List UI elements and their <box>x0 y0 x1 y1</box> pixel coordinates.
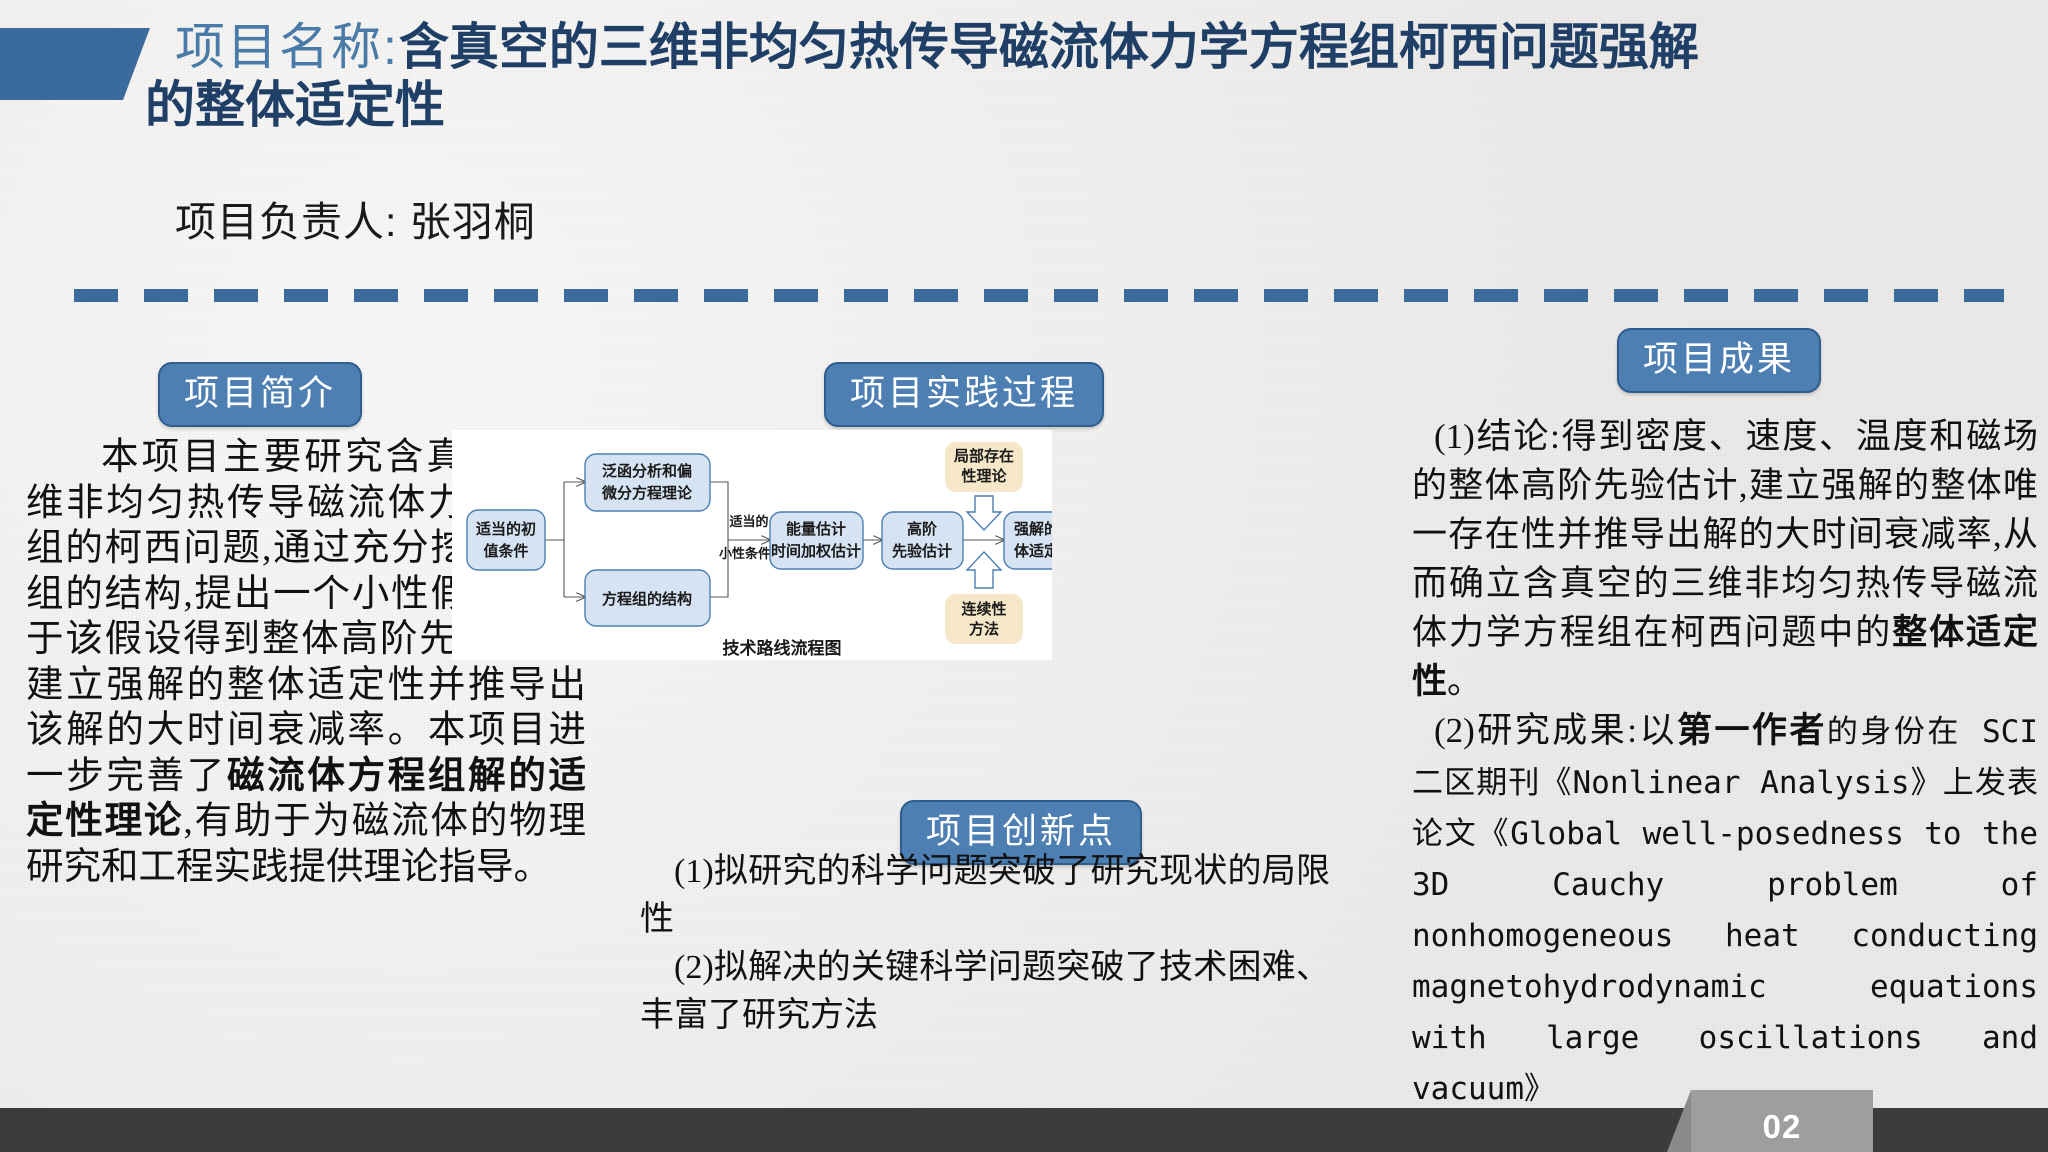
block-arrow-down-icon <box>967 496 1001 530</box>
flow-node-structure: 方程组的结构 <box>585 570 710 626</box>
flow-node-apriori-line1: 高阶 <box>907 520 938 538</box>
flow-node-energy: 能量估计 时间加权估计 <box>770 512 863 569</box>
flow-node-local-existence-line2: 性理论 <box>961 467 1007 485</box>
results-item-2-part-a: (2)研究成果:以 <box>1434 711 1677 750</box>
technical-roadmap-diagram: 适当的初 值条件 泛函分析和偏 微分方程理论 方程组的结构 适当的 小性条件 能… <box>452 430 1052 660</box>
dashed-divider <box>74 289 2004 302</box>
results-item-1-part-b: 。 <box>1447 662 1482 701</box>
block-arrow-up-icon <box>967 552 1001 588</box>
flow-node-continuity-line1: 连续性 <box>961 600 1006 618</box>
flow-node-local-existence-line1: 局部存在 <box>953 447 1014 465</box>
page-number: 02 <box>1691 1108 1873 1146</box>
section-heading-intro: 项目简介 <box>158 362 362 427</box>
title-main-line1: 含真空的三维非均匀热传导磁流体力学方程组柯西问题强解 <box>399 19 1699 75</box>
page-title: 项目名称:含真空的三维非均匀热传导磁流体力学方程组柯西问题强解 的整体适定性 <box>175 18 2045 134</box>
results-body-text: (1)结论:得到密度、速度、温度和磁场的整体高阶先验估计,建立强解的整体唯一存在… <box>1412 412 2038 1114</box>
diagram-caption: 技术路线流程图 <box>723 638 842 658</box>
results-item-2: (2)研究成果:以第一作者的身份在 SCI 二区期刊《Nonlinear Ana… <box>1412 706 2038 1114</box>
title-main-line2: 的整体适定性 <box>145 76 2045 134</box>
flow-node-init: 适当的初 值条件 <box>467 510 545 570</box>
flow-edge-label-smallness: 小性条件 <box>719 546 771 561</box>
results-item-2-part-b: 的身份在 SCI 二区期刊《Nonlinear Analysis》上发表论文《G… <box>1412 714 2038 1107</box>
title-prefix: 项目名称: <box>175 19 399 75</box>
flow-node-apriori-line2: 先验估计 <box>892 542 952 560</box>
flow-node-local-existence: 局部存在 性理论 <box>945 442 1023 492</box>
flow-edge-label-suitable: 适当的 <box>729 514 768 529</box>
results-item-1: (1)结论:得到密度、速度、温度和磁场的整体高阶先验估计,建立强解的整体唯一存在… <box>1412 412 2038 706</box>
innovation-item-2: (2)拟解决的关键科学问题突破了技术困难、丰富了研究方法 <box>640 944 1330 1040</box>
flow-node-energy-line1: 能量估计 <box>786 520 846 538</box>
flow-node-init-line1: 适当的初 <box>476 520 536 538</box>
flow-node-continuity-line2: 方法 <box>969 620 999 638</box>
flow-node-apriori: 高阶 先验估计 <box>882 512 963 569</box>
flow-node-wellposed-line1: 强解的整 <box>1014 520 1052 538</box>
innovation-item-1: (1)拟研究的科学问题突破了研究现状的局限性 <box>640 848 1330 944</box>
flow-node-init-line2: 值条件 <box>483 542 528 560</box>
header-accent-shape <box>0 28 150 100</box>
flow-node-wellposed-line2: 体适定性 <box>1014 542 1052 560</box>
section-heading-results: 项目成果 <box>1617 328 1821 393</box>
flow-node-theory-line1: 泛函分析和偏 <box>602 462 692 480</box>
flow-node-theory: 泛函分析和偏 微分方程理论 <box>585 454 710 511</box>
innovation-body-text: (1)拟研究的科学问题突破了研究现状的局限性 (2)拟解决的关键科学问题突破了技… <box>640 848 1330 1040</box>
results-item-2-bold: 第一作者 <box>1677 711 1827 750</box>
flow-node-structure-line1: 方程组的结构 <box>602 590 692 608</box>
section-heading-process: 项目实践过程 <box>824 362 1104 427</box>
flow-node-energy-line2: 时间加权估计 <box>771 542 861 560</box>
flow-node-wellposed: 强解的整 体适定性 <box>1004 512 1052 569</box>
slide-canvas: 项目名称:含真空的三维非均匀热传导磁流体力学方程组柯西问题强解 的整体适定性 项… <box>0 0 2048 1152</box>
project-leader: 项目负责人: 张羽桐 <box>175 188 536 248</box>
flow-node-theory-line2: 微分方程理论 <box>601 484 693 502</box>
flow-node-continuity: 连续性 方法 <box>945 594 1023 644</box>
